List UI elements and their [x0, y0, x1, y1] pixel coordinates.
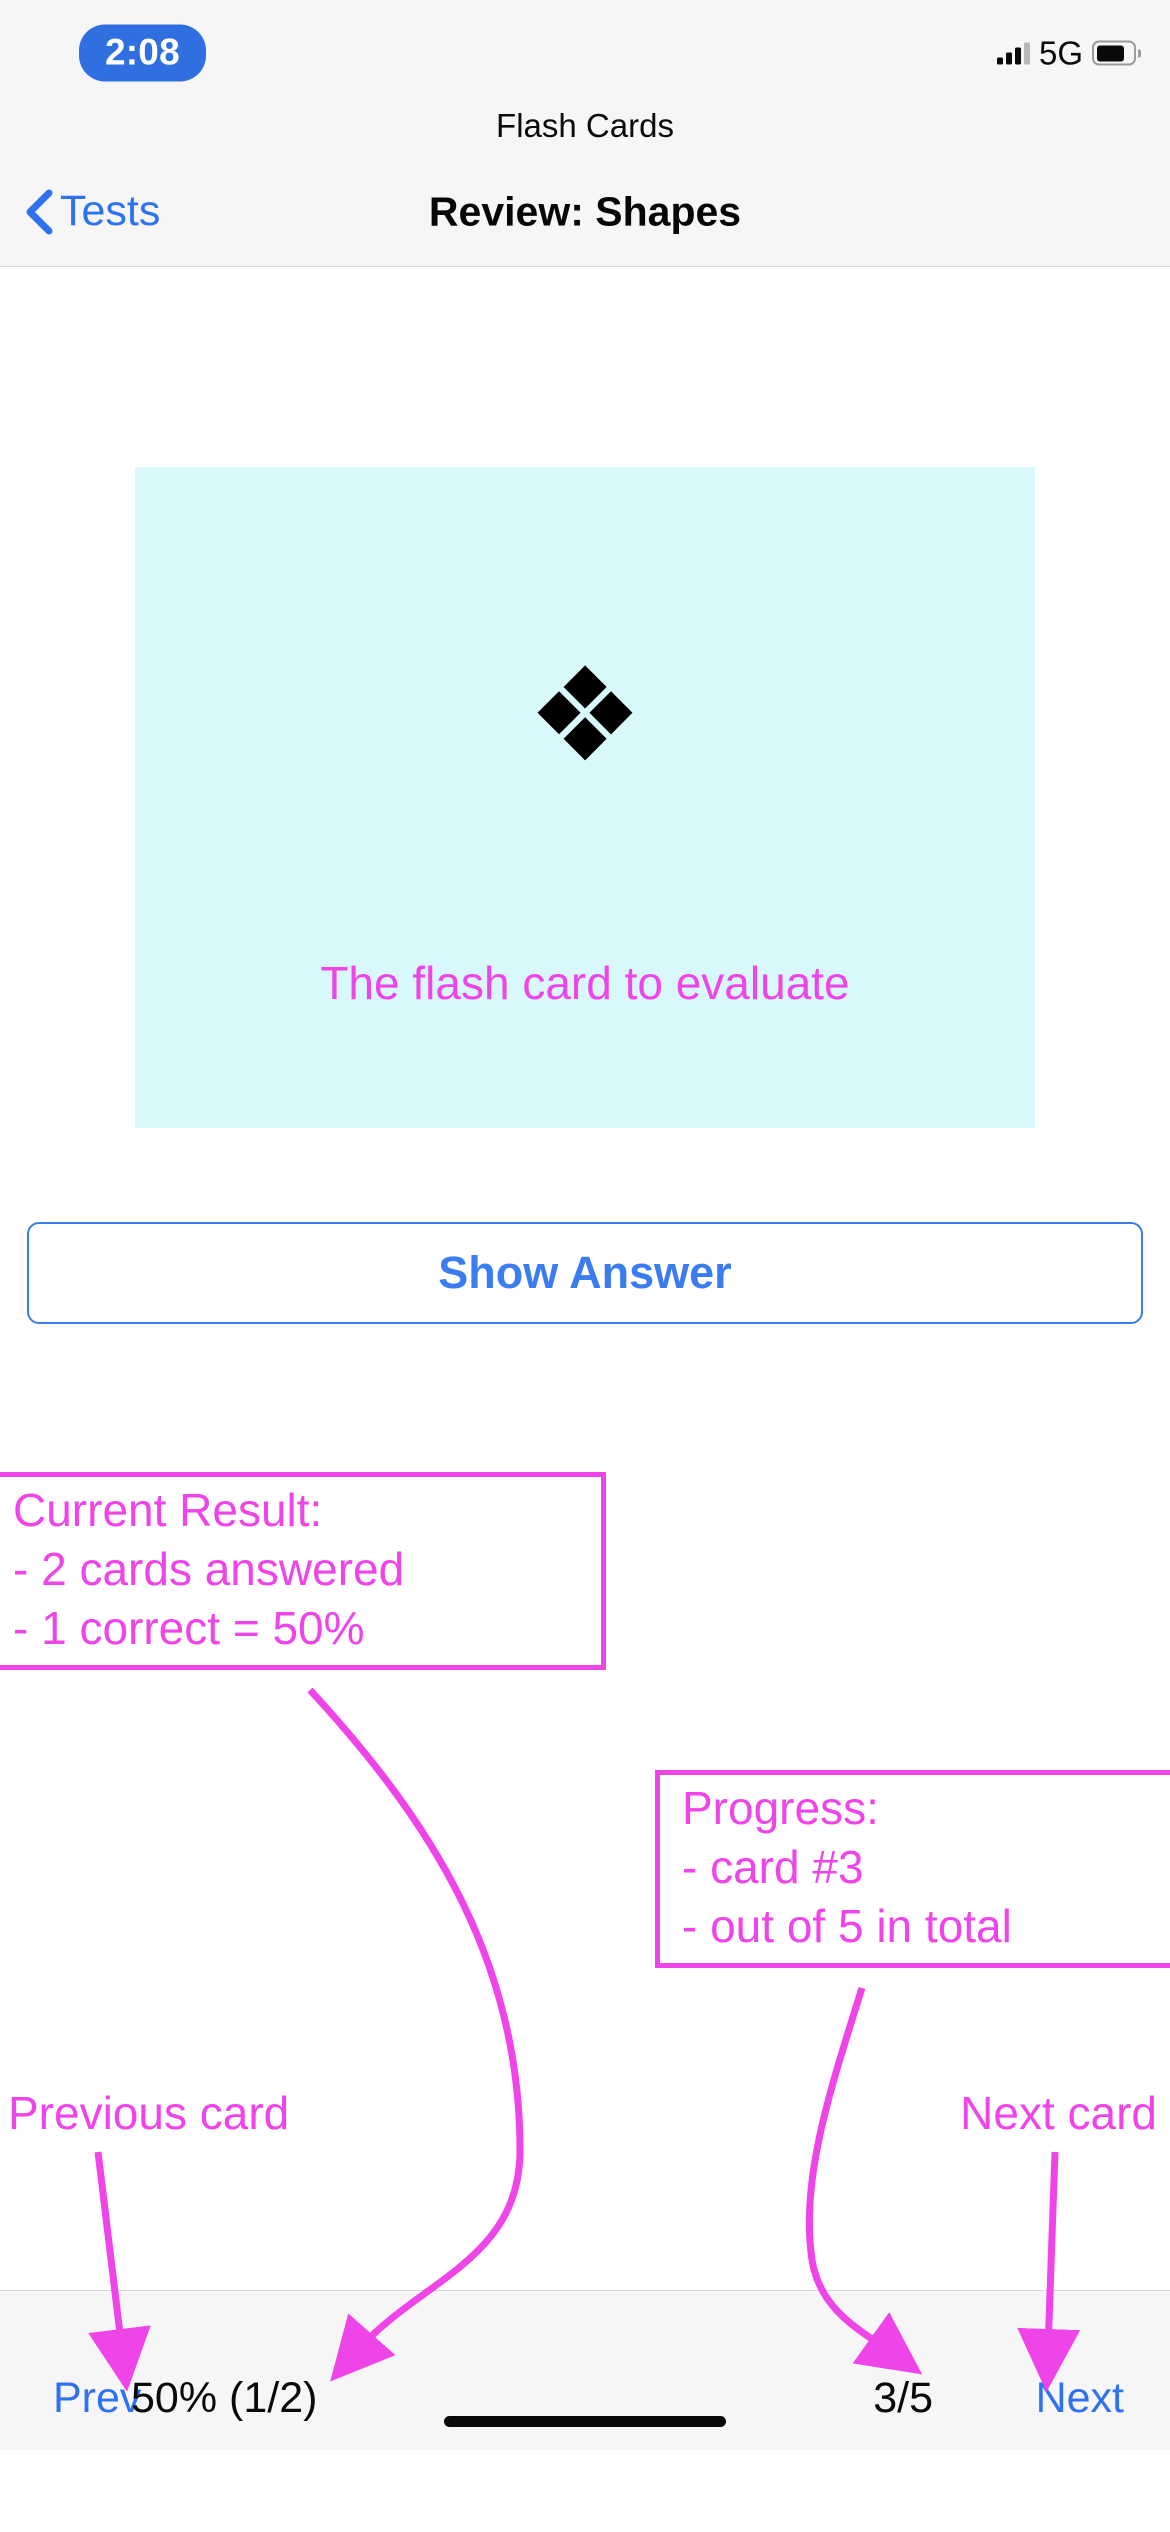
annotation-next-card-label: Next card [960, 2090, 1157, 2136]
annotation-result-line-1: - 2 cards answered [13, 1546, 587, 1592]
signal-bars-icon [997, 42, 1030, 64]
home-indicator [444, 2416, 726, 2427]
next-button[interactable]: Next [1036, 2377, 1124, 2420]
annotation-result-box: Current Result: - 2 cards answered - 1 c… [0, 1472, 606, 1670]
page-title: Review: Shapes [0, 188, 1170, 235]
prev-button[interactable]: Prev [53, 2377, 141, 2420]
annotation-progress-line-1: - card #3 [682, 1844, 1170, 1890]
navigation-bar: Tests Review: Shapes [0, 157, 1170, 267]
show-answer-button[interactable]: Show Answer [27, 1222, 1143, 1324]
flash-card[interactable]: ❖ The flash card to evaluate [135, 467, 1035, 1128]
status-bar: 2:08 5G [0, 0, 1170, 95]
arrow-result-to-score [310, 1690, 520, 2350]
show-answer-label: Show Answer [438, 1247, 731, 1299]
annotation-progress-box: Progress: - card #3 - out of 5 in total [655, 1770, 1170, 1968]
bottom-toolbar: Prev 50% (1/2) 3/5 Next [0, 2290, 1170, 2450]
annotation-result-line-2: - 1 correct = 50% [13, 1605, 587, 1651]
annotation-previous-card-label: Previous card [8, 2090, 289, 2136]
flash-card-caption: The flash card to evaluate [135, 960, 1035, 1006]
status-bar-time: 2:08 [79, 25, 206, 82]
status-bar-indicators: 5G [997, 37, 1140, 70]
score-label: 50% (1/2) [131, 2377, 317, 2420]
annotation-progress-line-2: - out of 5 in total [682, 1903, 1170, 1949]
progress-label: 3/5 [873, 2377, 933, 2420]
black-diamond-icon: ❖ [135, 650, 1035, 780]
network-type-label: 5G [1039, 37, 1083, 70]
annotation-progress-title: Progress: [682, 1785, 1170, 1831]
app-title: Flash Cards [496, 107, 674, 145]
annotation-result-title: Current Result: [13, 1487, 587, 1533]
app-title-bar: Flash Cards [0, 95, 1170, 157]
battery-icon [1092, 41, 1140, 66]
